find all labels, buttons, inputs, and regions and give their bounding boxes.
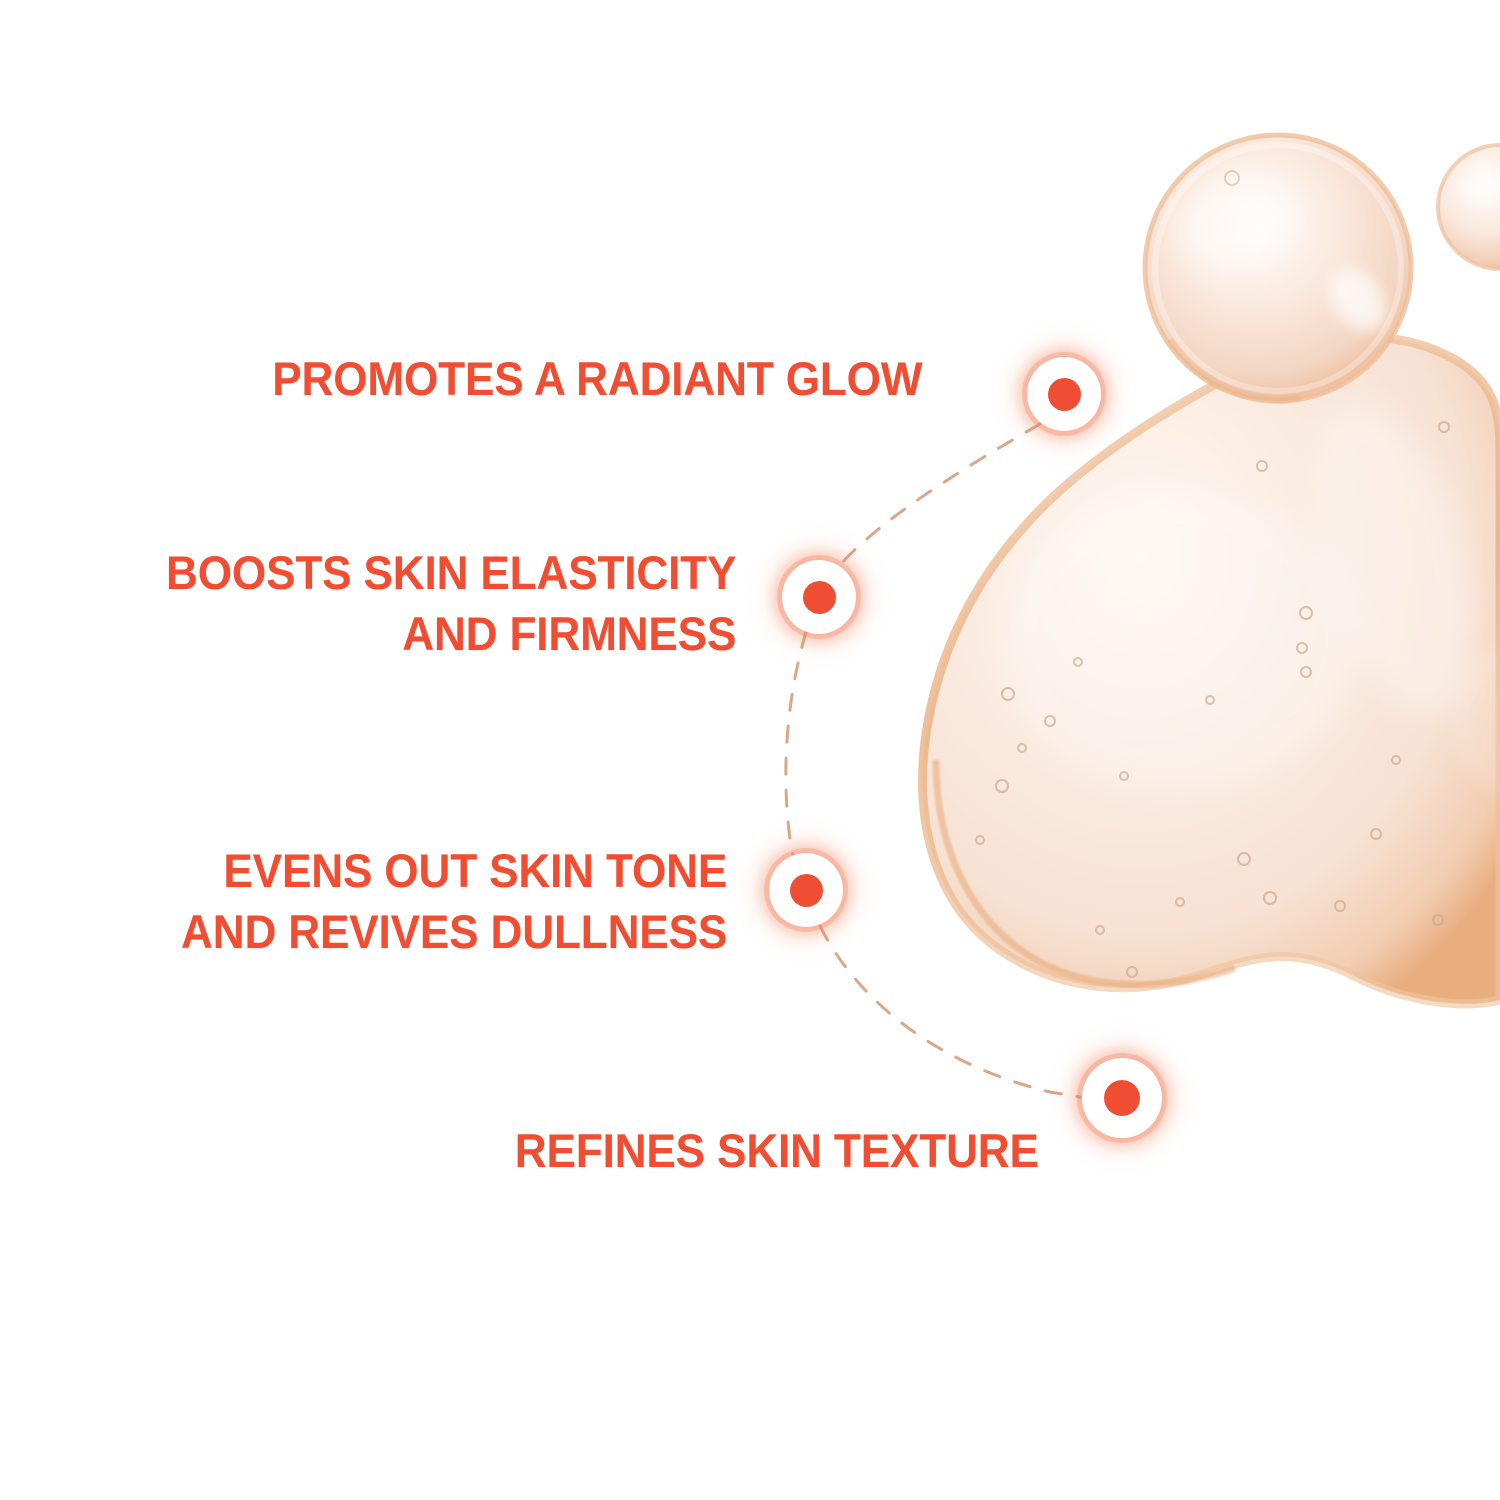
benefit-label-refines-skin-texture: REFINES SKIN TEXTURE (515, 1120, 1041, 1181)
benefit-label-boosts-skin-elasticity: BOOSTS SKIN ELASTICITY AND FIRMNESS (149, 542, 737, 664)
benefit-marker-evens-out-skin-tone[interactable] (769, 853, 843, 927)
marker-dot-icon (1048, 378, 1081, 411)
benefit-marker-promotes-radiant-glow[interactable] (1027, 357, 1101, 431)
benefit-marker-boosts-skin-elasticity[interactable] (782, 560, 856, 634)
dashed-connector-path (0, 0, 1500, 1500)
benefit-label-evens-out-skin-tone: EVENS OUT SKIN TONE AND REVIVES DULLNESS (168, 840, 727, 962)
marker-dot-icon (1104, 1080, 1140, 1116)
benefit-marker-refines-skin-texture[interactable] (1082, 1058, 1162, 1138)
infographic-canvas: PROMOTES A RADIANT GLOW BOOSTS SKIN ELAS… (0, 0, 1500, 1500)
marker-dot-icon (803, 581, 836, 614)
benefit-label-promotes-radiant-glow: PROMOTES A RADIANT GLOW (272, 348, 968, 409)
marker-dot-icon (790, 874, 823, 907)
